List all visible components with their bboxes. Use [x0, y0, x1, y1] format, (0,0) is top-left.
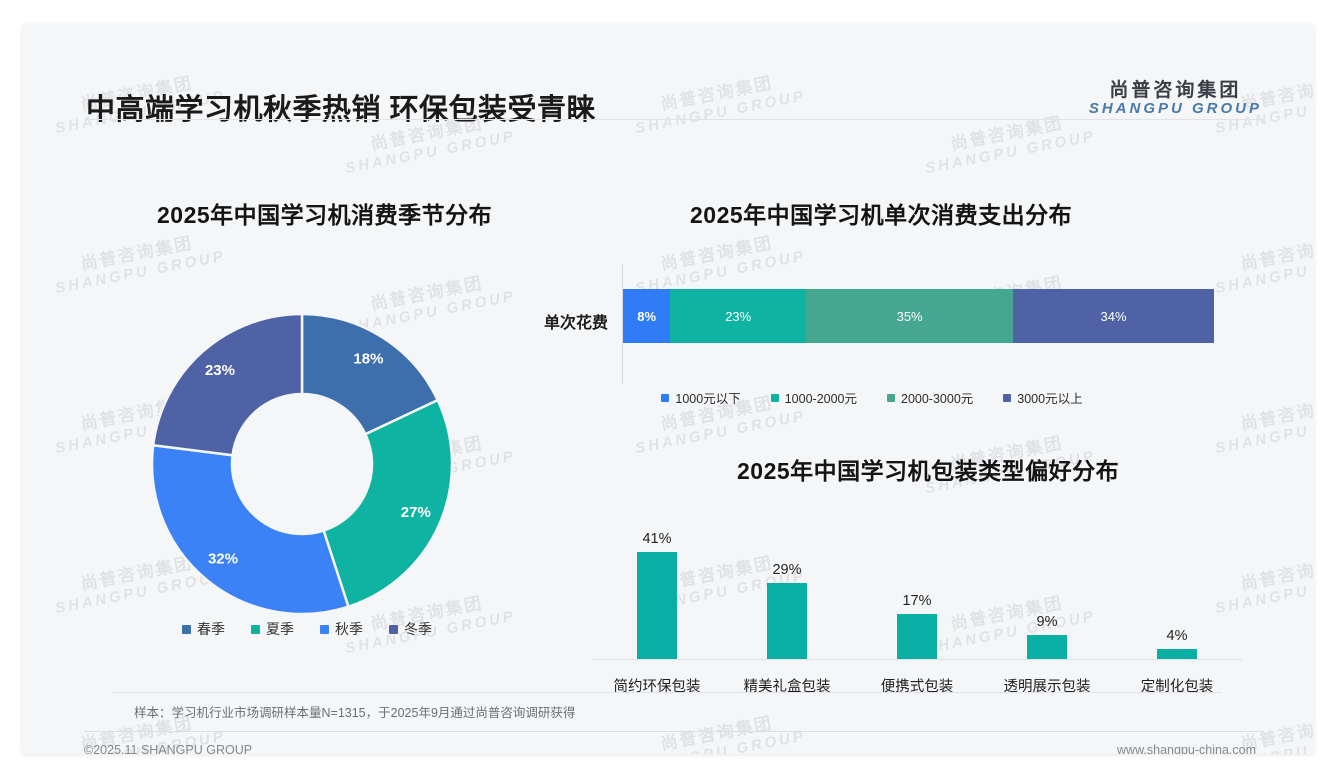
- package-chart-title: 2025年中国学习机包装类型偏好分布: [737, 452, 1119, 486]
- legend-label: 夏季: [266, 619, 294, 639]
- sample-footnote: 样本：学习机行业市场调研样本量N=1315，于2025年9月通过尚普咨询调研获得: [134, 702, 575, 721]
- watermark-text: 尚普咨询集团SHANGPU GROUP: [920, 748, 1097, 754]
- donut-slice-label: 23%: [205, 362, 235, 379]
- season-legend-item[interactable]: 春季: [182, 619, 225, 639]
- package-bar-column[interactable]: 41%: [592, 509, 722, 659]
- logo-chinese-text: 尚普咨询集团: [1089, 80, 1262, 101]
- legend-swatch: [251, 625, 260, 634]
- package-bar-value: 41%: [642, 531, 671, 547]
- package-bar-column[interactable]: 4%: [1112, 509, 1242, 659]
- legend-label: 春季: [197, 619, 225, 639]
- package-bar-value: 4%: [1167, 628, 1188, 644]
- spend-segment[interactable]: 34%: [1013, 289, 1214, 343]
- donut-hole: [232, 394, 372, 534]
- legend-swatch: [661, 394, 669, 402]
- package-bar-rect[interactable]: [637, 552, 677, 660]
- watermark-text: 尚普咨询集团SHANGPU GROUP: [50, 228, 227, 297]
- package-bar-rect[interactable]: [1157, 649, 1197, 659]
- spend-segment[interactable]: 35%: [806, 289, 1013, 343]
- legend-label: 3000元以上: [1017, 388, 1082, 407]
- slide-header: 中高端学习机秋季热销 环保包装受青睐 尚普咨询集团 SHANGPU GROUP: [22, 24, 1314, 120]
- donut-slice-label: 32%: [208, 551, 238, 568]
- footer-website: www.shangpu-china.com: [1117, 743, 1256, 754]
- season-legend-item[interactable]: 秋季: [320, 619, 363, 639]
- legend-swatch: [771, 394, 779, 402]
- footer-copyright: ©2025.11 SHANGPU GROUP: [84, 743, 252, 754]
- spend-category-label: 单次花费: [522, 309, 608, 333]
- spend-segment[interactable]: 23%: [670, 289, 806, 343]
- legend-label: 1000元以下: [675, 388, 740, 407]
- season-legend-item[interactable]: 夏季: [251, 619, 294, 639]
- season-legend: 春季夏季秋季冬季: [137, 619, 477, 639]
- spend-chart-title: 2025年中国学习机单次消费支出分布: [690, 196, 1072, 230]
- package-bar-value: 17%: [902, 593, 931, 609]
- spend-legend-item[interactable]: 1000-2000元: [771, 388, 857, 407]
- page-title: 中高端学习机秋季热销 环保包装受青睐: [86, 86, 596, 128]
- package-bar-column[interactable]: 29%: [722, 509, 852, 659]
- package-bar-column[interactable]: 9%: [982, 509, 1112, 659]
- donut-svg: 18%27%32%23%: [137, 299, 467, 629]
- legend-swatch: [182, 625, 191, 634]
- legend-label: 2000-3000元: [901, 388, 973, 407]
- spend-segment[interactable]: 8%: [623, 289, 670, 343]
- footer-divider: [84, 731, 1264, 732]
- legend-swatch: [1003, 394, 1011, 402]
- legend-label: 冬季: [404, 619, 432, 639]
- watermark-text: 尚普咨询集团SHANGPU GROUP: [1210, 228, 1314, 297]
- spend-legend-item[interactable]: 1000元以下: [661, 388, 740, 407]
- donut-slice-label: 27%: [401, 504, 431, 521]
- spend-legend-item[interactable]: 3000元以上: [1003, 388, 1082, 407]
- package-baseline: [592, 659, 1242, 660]
- spend-legend-item[interactable]: 2000-3000元: [887, 388, 973, 407]
- package-bar-value: 9%: [1037, 614, 1058, 630]
- spend-legend: 1000元以下1000-2000元2000-3000元3000元以上: [522, 388, 1222, 407]
- legend-label: 秋季: [335, 619, 363, 639]
- legend-swatch: [320, 625, 329, 634]
- legend-swatch: [389, 625, 398, 634]
- package-bars-row: 41%29%17%9%4%: [592, 509, 1242, 659]
- watermark-text: 尚普咨询集团SHANGPU GROUP: [1210, 388, 1314, 457]
- package-bar-rect[interactable]: [897, 614, 937, 659]
- package-bar-value: 29%: [772, 562, 801, 578]
- logo-english-text: SHANGPU GROUP: [1089, 101, 1262, 118]
- footnote-divider: [112, 692, 1222, 693]
- legend-swatch: [887, 394, 895, 402]
- header-divider: [84, 119, 1264, 120]
- season-chart-title: 2025年中国学习机消费季节分布: [157, 196, 492, 230]
- slide-canvas: 尚普咨询集团SHANGPU GROUP尚普咨询集团SHANGPU GROUP尚普…: [22, 24, 1314, 754]
- package-bar-chart: 41%29%17%9%4% 简约环保包装精美礼盒包装便携式包装透明展示包装定制化…: [592, 509, 1252, 704]
- package-bar-column[interactable]: 17%: [852, 509, 982, 659]
- season-legend-item[interactable]: 冬季: [389, 619, 432, 639]
- donut-slice-label: 18%: [353, 350, 383, 367]
- spend-stacked-chart: 单次花费 8%23%35%34%: [522, 264, 1222, 394]
- spend-stacked-bar: 8%23%35%34%: [623, 289, 1214, 343]
- package-bar-rect[interactable]: [1027, 635, 1067, 659]
- watermark-text: 尚普咨询集团SHANGPU GROUP: [340, 748, 517, 754]
- brand-logo: 尚普咨询集团 SHANGPU GROUP: [1089, 80, 1262, 118]
- legend-label: 1000-2000元: [785, 388, 857, 407]
- package-bar-rect[interactable]: [767, 583, 807, 659]
- season-donut-chart: 18%27%32%23%: [137, 299, 467, 629]
